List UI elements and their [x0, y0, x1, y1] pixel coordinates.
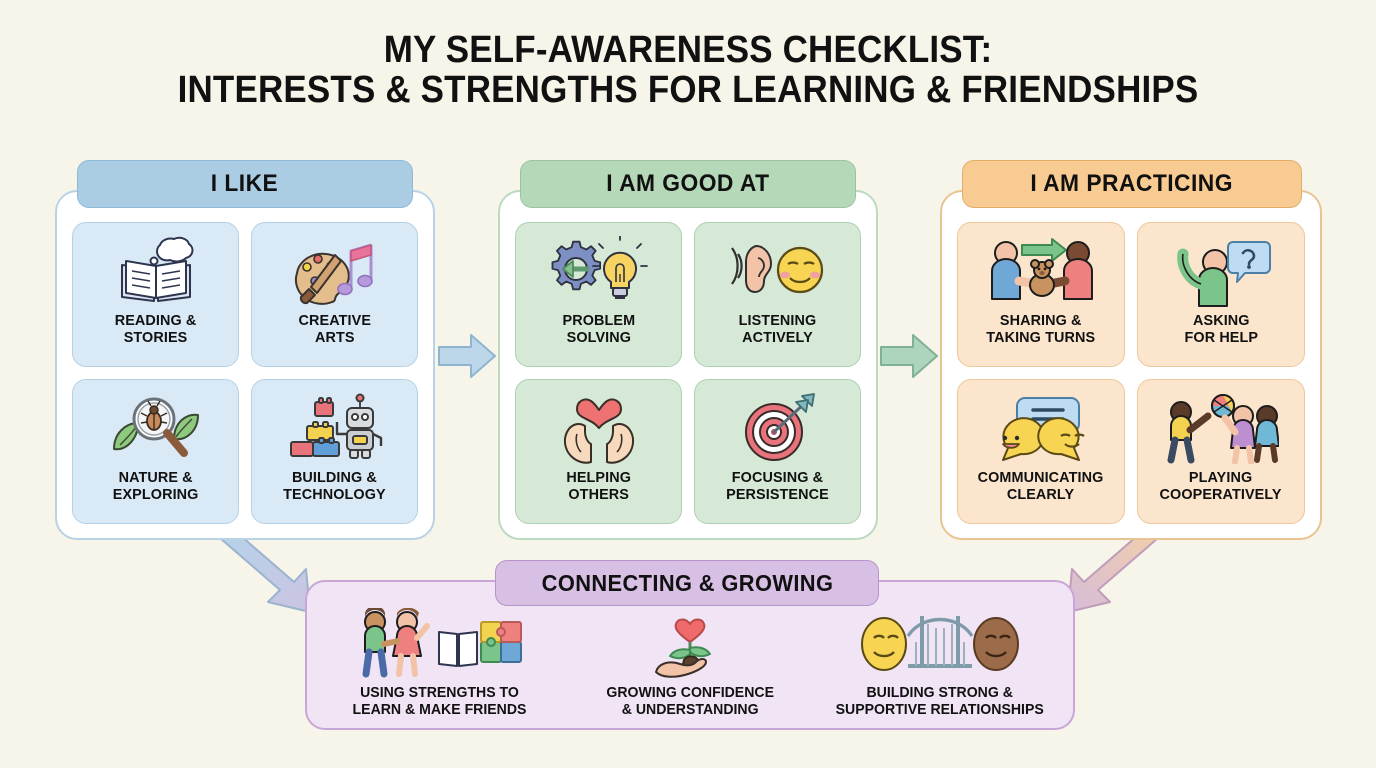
title-line-2: INTERESTS & STRENGTHS FOR LEARNING & FRI… — [55, 70, 1321, 110]
card-label: PROBLEM SOLVING — [562, 313, 635, 347]
card-label: BUILDING & TECHNOLOGY — [283, 470, 386, 504]
panel-header-i-like: I LIKE — [77, 160, 413, 208]
paint-palette-music-notes-icon — [258, 233, 411, 311]
card-grid-i-like: READING & STORIES — [72, 222, 418, 524]
panel-header-connecting-growing: CONNECTING & GROWING — [495, 560, 879, 606]
open-book-thought-bubble-icon — [79, 233, 232, 311]
gear-lightbulb-icon — [522, 233, 675, 311]
card-grid-i-am-practicing: SHARING & TAKING TURNS ASKING FOR HELP — [957, 222, 1305, 524]
page-title: MY SELF-AWARENESS CHECKLIST: INTERESTS &… — [0, 30, 1376, 111]
bottom-item-list: USING STRENGTHS TO LEARN & MAKE FRIENDS … — [315, 608, 1065, 726]
ear-smiling-face-icon — [701, 233, 854, 311]
card-problem-solving[interactable]: PROBLEM SOLVING — [515, 222, 682, 367]
raised-hand-question-bubble-icon — [1144, 233, 1298, 311]
arrow-orange-to-bottom-icon — [1058, 528, 1188, 618]
panel-header-connecting-growing-label: CONNECTING & GROWING — [541, 570, 833, 597]
card-creative-arts[interactable]: CREATIVE ARTS — [251, 222, 418, 367]
card-playing-cooperatively[interactable]: PLAYING COOPERATIVELY — [1137, 379, 1305, 524]
arrow-blue-to-green-icon — [437, 325, 499, 387]
card-grid-i-am-good-at: PROBLEM SOLVING — [515, 222, 861, 524]
panel-header-i-am-practicing-label: I AM PRACTICING — [1031, 170, 1234, 198]
card-label: SHARING & TAKING TURNS — [987, 313, 1096, 347]
card-helping-others[interactable]: HELPING OTHERS — [515, 379, 682, 524]
card-sharing-taking-turns[interactable]: SHARING & TAKING TURNS — [957, 222, 1125, 367]
card-listening-actively[interactable]: LISTENING ACTIVELY — [694, 222, 861, 367]
bottom-item-label: BUILDING STRONG & SUPPORTIVE RELATIONSHI… — [836, 684, 1044, 719]
arrow-blue-to-bottom-icon — [190, 528, 320, 618]
panel-header-i-am-good-at: I AM GOOD AT — [520, 160, 856, 208]
bottom-item-label: USING STRENGTHS TO LEARN & MAKE FRIENDS — [353, 684, 527, 719]
panel-header-i-am-good-at-label: I AM GOOD AT — [606, 170, 769, 198]
card-label: READING & STORIES — [115, 313, 197, 347]
card-communicating-clearly[interactable]: COMMUNICATING CLEARLY — [957, 379, 1125, 524]
card-focusing-persistence[interactable]: FOCUSING & PERSISTENCE — [694, 379, 861, 524]
card-label: CREATIVE ARTS — [298, 313, 371, 347]
card-label: LISTENING ACTIVELY — [739, 313, 817, 347]
two-speech-bubble-faces-icon — [964, 390, 1118, 468]
magnifying-glass-bug-leaves-icon — [79, 390, 232, 468]
hand-holding-sprout-heart-icon — [640, 608, 740, 678]
bottom-item-using-strengths[interactable]: USING STRENGTHS TO LEARN & MAKE FRIENDS — [315, 608, 565, 719]
two-children-book-puzzle-icon — [345, 608, 535, 678]
two-faces-bridge-icon — [860, 608, 1020, 678]
title-line-1: MY SELF-AWARENESS CHECKLIST: — [55, 30, 1321, 70]
hands-holding-heart-icon — [522, 390, 675, 468]
card-reading-stories[interactable]: READING & STORIES — [72, 222, 239, 367]
building-blocks-robot-icon — [258, 390, 411, 468]
card-label: PLAYING COOPERATIVELY — [1160, 470, 1282, 504]
bottom-item-label: GROWING CONFIDENCE & UNDERSTANDING — [606, 684, 774, 719]
arrow-green-to-orange-icon — [879, 325, 941, 387]
card-label: NATURE & EXPLORING — [113, 470, 199, 504]
infographic-canvas: MY SELF-AWARENESS CHECKLIST: INTERESTS &… — [0, 0, 1376, 768]
card-label: COMMUNICATING CLEARLY — [978, 470, 1104, 504]
card-asking-for-help[interactable]: ASKING FOR HELP — [1137, 222, 1305, 367]
panel-header-i-like-label: I LIKE — [211, 170, 278, 198]
target-dart-icon — [701, 390, 854, 468]
card-label: FOCUSING & PERSISTENCE — [726, 470, 829, 504]
bottom-item-building-relationships[interactable]: BUILDING STRONG & SUPPORTIVE RELATIONSHI… — [815, 608, 1065, 719]
two-children-sharing-teddy-icon — [964, 233, 1118, 311]
card-label: HELPING OTHERS — [566, 470, 631, 504]
card-nature-exploring[interactable]: NATURE & EXPLORING — [72, 379, 239, 524]
children-playing-ball-icon — [1144, 390, 1298, 468]
bottom-item-growing-confidence[interactable]: GROWING CONFIDENCE & UNDERSTANDING — [565, 608, 815, 719]
card-building-technology[interactable]: BUILDING & TECHNOLOGY — [251, 379, 418, 524]
card-label: ASKING FOR HELP — [1184, 313, 1258, 347]
panel-header-i-am-practicing: I AM PRACTICING — [962, 160, 1302, 208]
